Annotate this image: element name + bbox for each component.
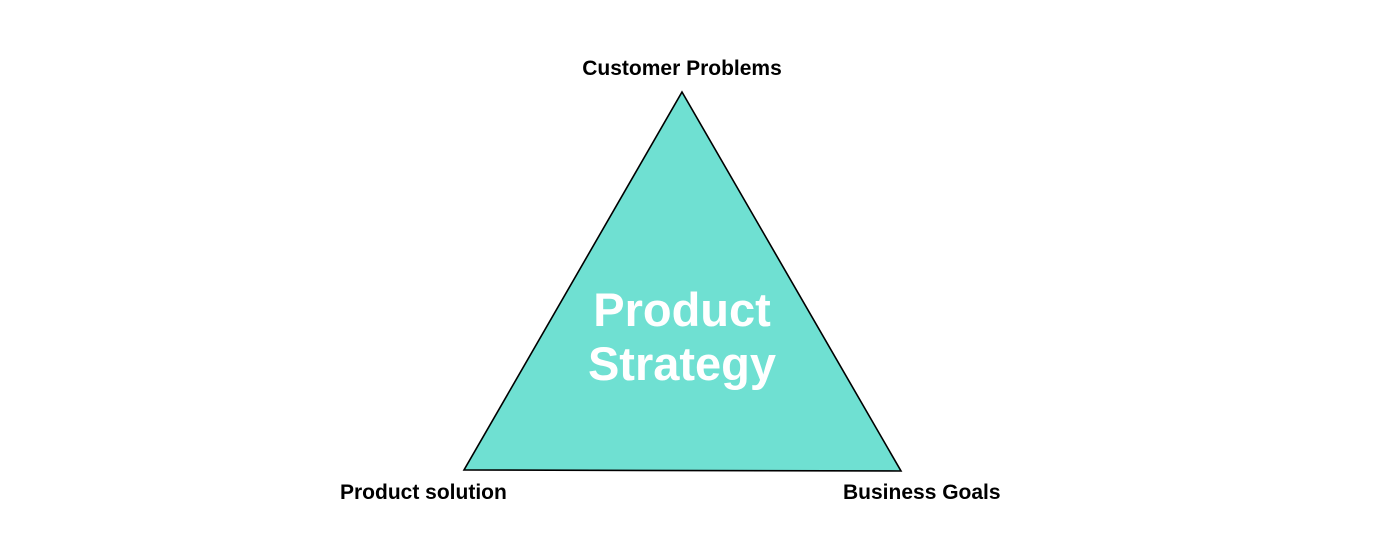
center-label: Product Strategy xyxy=(482,283,882,391)
corner-label-customer-problems: Customer Problems xyxy=(0,58,1382,79)
product-strategy-triangle-svg xyxy=(0,0,1400,558)
center-label-line-1: Product xyxy=(482,283,882,337)
diagram-canvas: Product Strategy Customer Problems Produ… xyxy=(0,0,1400,558)
corner-label-product-solution: Product solution xyxy=(340,482,507,503)
triangle-shape xyxy=(464,92,901,471)
corner-label-business-goals: Business Goals xyxy=(843,482,1001,503)
center-label-line-2: Strategy xyxy=(482,337,882,391)
